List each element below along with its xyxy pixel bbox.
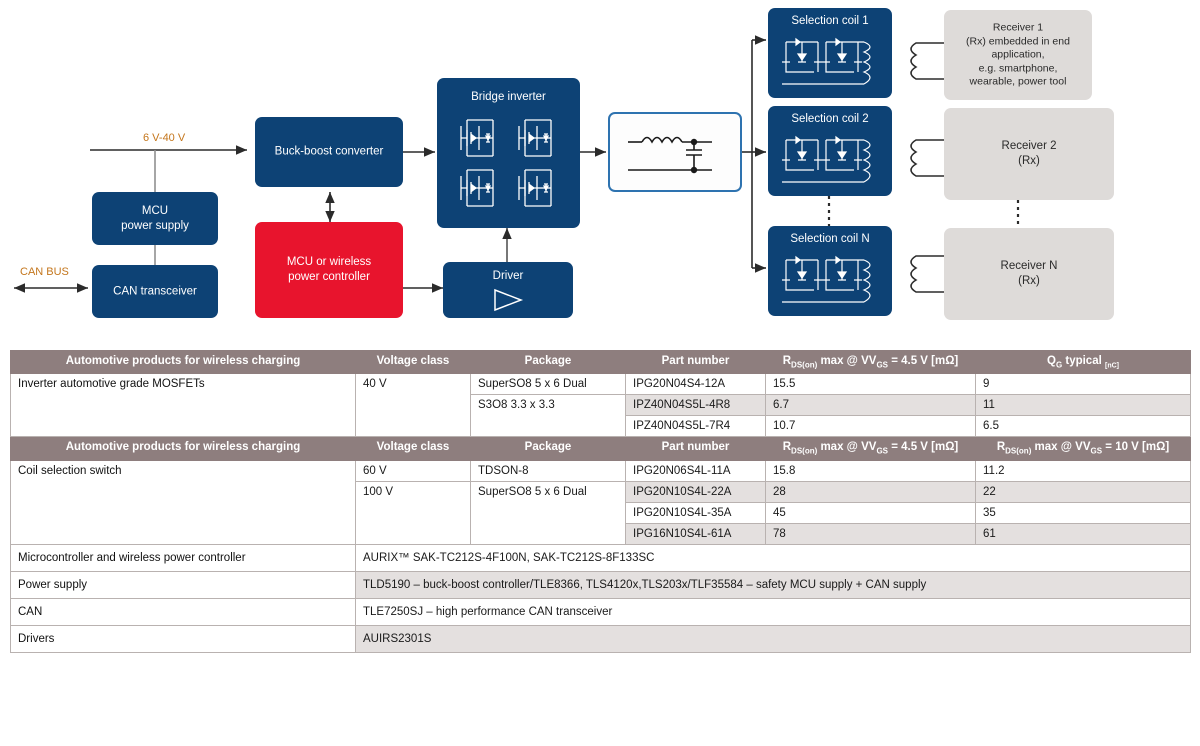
header-rdson-45v: RDS(on) max @ VVGS = 4.5 V [mΩ] [766, 351, 976, 374]
cell-category: Drivers [11, 625, 356, 652]
cell-rdson-10v: 61 [976, 523, 1191, 544]
block-buck-boost-converter[interactable]: Buck-boost converter [255, 117, 403, 187]
cell-package: SuperSO8 5 x 6 Dual [471, 481, 626, 544]
block-label: Receiver 1 (Rx) embedded in end applicat… [944, 21, 1092, 89]
cell-part-number: IPG20N04S4-12A [626, 374, 766, 395]
cell-voltage-class: 100 V [356, 481, 471, 544]
cell-value: TLD5190 – buck-boost controller/TLE8366,… [356, 571, 1191, 598]
header-part-number: Part number [626, 437, 766, 460]
cell-part-number: IPG20N10S4L-35A [626, 502, 766, 523]
cell-rdson-45v: 15.8 [766, 460, 976, 481]
block-label: Receiver N (Rx) [944, 259, 1114, 289]
cell-category: Inverter automotive grade MOSFETs [11, 374, 356, 437]
block-diagram: 6 V-40 V CAN BUS MCU power supply CAN tr… [0, 0, 1200, 340]
cell-value: AURIX™ SAK-TC212S-4F100N, SAK-TC212S-8F1… [356, 544, 1191, 571]
table-row: Inverter automotive grade MOSFETs 40 V S… [11, 374, 1191, 395]
cell-voltage-class: 60 V [356, 460, 471, 481]
block-label: MCU power supply [92, 204, 218, 234]
selection-coil-schematic-icon [778, 250, 882, 310]
block-label: Bridge inverter [437, 90, 580, 104]
cell-rdson-10v: 11.2 [976, 460, 1191, 481]
cell-package: SuperSO8 5 x 6 Dual [471, 374, 626, 395]
block-receiver-n[interactable]: Receiver N (Rx) [944, 228, 1114, 320]
header-voltage-class: Voltage class [356, 351, 471, 374]
cell-rdson-45v: 45 [766, 502, 976, 523]
header-category: Automotive products for wireless chargin… [11, 351, 356, 374]
cell-category: Microcontroller and wireless power contr… [11, 544, 356, 571]
product-table-wrapper: Automotive products for wireless chargin… [10, 350, 1190, 653]
table-row: Coil selection switch 60 V TDSON-8 IPG20… [11, 460, 1191, 481]
lc-filter-schematic-icon [624, 128, 730, 180]
block-selection-coil-1[interactable]: Selection coil 1 [768, 8, 892, 98]
table-header-row-section2: Automotive products for wireless chargin… [11, 437, 1191, 460]
block-label: Selection coil N [768, 232, 892, 246]
block-label: MCU or wireless power controller [255, 255, 403, 285]
block-mcu-wireless-power-controller[interactable]: MCU or wireless power controller [255, 222, 403, 318]
block-can-transceiver[interactable]: CAN transceiver [92, 265, 218, 318]
cell-qg: 11 [976, 395, 1191, 416]
cell-rdson: 10.7 [766, 416, 976, 437]
header-rdson-45v: RDS(on) max @ VVGS = 4.5 V [mΩ] [766, 437, 976, 460]
input-voltage-label: 6 V-40 V [143, 132, 185, 144]
cell-part-number: IPG20N10S4L-22A [626, 481, 766, 502]
amplifier-triangle-icon [491, 287, 525, 313]
cell-part-number: IPG16N10S4L-61A [626, 523, 766, 544]
cell-part-number: IPZ40N04S5L-7R4 [626, 416, 766, 437]
block-label: CAN transceiver [92, 284, 218, 299]
cell-voltage-class: 40 V [356, 374, 471, 437]
header-package: Package [471, 437, 626, 460]
block-lc-filter[interactable] [608, 112, 742, 192]
selection-coil-schematic-icon [778, 32, 882, 92]
cell-package: S3O8 3.3 x 3.3 [471, 395, 626, 437]
block-selection-coil-n[interactable]: Selection coil N [768, 226, 892, 316]
cell-category: CAN [11, 598, 356, 625]
product-specification-table: Automotive products for wireless chargin… [10, 350, 1191, 653]
bridge-inverter-mosfets-icon [453, 114, 565, 212]
block-bridge-inverter[interactable]: Bridge inverter [437, 78, 580, 228]
header-rdson-10v: RDS(on) max @ VVGS = 10 V [mΩ] [976, 437, 1191, 460]
block-driver[interactable]: Driver [443, 262, 573, 318]
cell-rdson-45v: 78 [766, 523, 976, 544]
cell-rdson: 6.7 [766, 395, 976, 416]
cell-rdson: 15.5 [766, 374, 976, 395]
cell-rdson-45v: 28 [766, 481, 976, 502]
cell-part-number: IPG20N06S4L-11A [626, 460, 766, 481]
header-voltage-class: Voltage class [356, 437, 471, 460]
cell-rdson-10v: 35 [976, 502, 1191, 523]
block-label: Buck-boost converter [255, 145, 403, 160]
block-label: Selection coil 2 [768, 112, 892, 126]
block-receiver-1[interactable]: Receiver 1 (Rx) embedded in end applicat… [944, 10, 1092, 100]
table-row-power-supply: Power supply TLD5190 – buck-boost contro… [11, 571, 1191, 598]
can-bus-label: CAN BUS [20, 266, 69, 278]
cell-package: TDSON-8 [471, 460, 626, 481]
block-selection-coil-2[interactable]: Selection coil 2 [768, 106, 892, 196]
header-qg-typical: QG typical [nC] [976, 351, 1191, 374]
block-mcu-power-supply[interactable]: MCU power supply [92, 192, 218, 245]
table-row-drivers: Drivers AUIRS2301S [11, 625, 1191, 652]
block-label: Selection coil 1 [768, 14, 892, 28]
block-receiver-2[interactable]: Receiver 2 (Rx) [944, 108, 1114, 200]
table-row-can: CAN TLE7250SJ – high performance CAN tra… [11, 598, 1191, 625]
table-row-microcontroller: Microcontroller and wireless power contr… [11, 544, 1191, 571]
block-label: Receiver 2 (Rx) [944, 139, 1114, 169]
cell-category: Coil selection switch [11, 460, 356, 544]
table-header-row-section1: Automotive products for wireless chargin… [11, 351, 1191, 374]
cell-qg: 6.5 [976, 416, 1191, 437]
header-package: Package [471, 351, 626, 374]
header-category: Automotive products for wireless chargin… [11, 437, 356, 460]
cell-value: TLE7250SJ – high performance CAN transce… [356, 598, 1191, 625]
selection-coil-schematic-icon [778, 130, 882, 190]
cell-category: Power supply [11, 571, 356, 598]
cell-qg: 9 [976, 374, 1191, 395]
header-part-number: Part number [626, 351, 766, 374]
block-label: Driver [443, 269, 573, 283]
cell-rdson-10v: 22 [976, 481, 1191, 502]
cell-value: AUIRS2301S [356, 625, 1191, 652]
cell-part-number: IPZ40N04S5L-4R8 [626, 395, 766, 416]
